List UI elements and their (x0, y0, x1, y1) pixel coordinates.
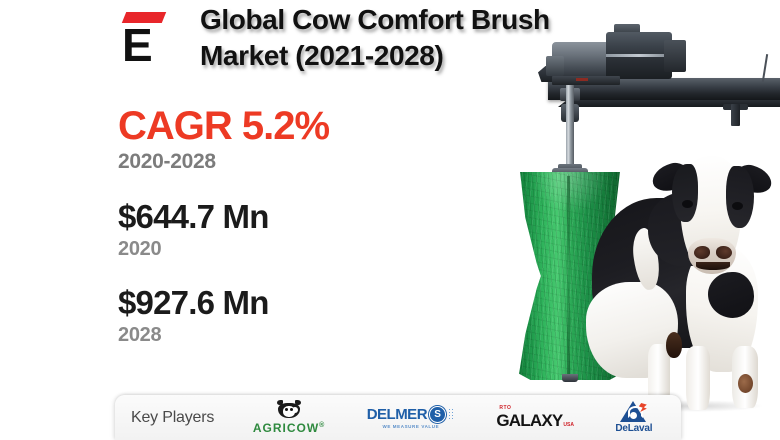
galaxy-sub-text: USA (563, 422, 574, 428)
key-players-logo-list: AGRICOW® DELMER S WE MEASURE VALUE RTO G… (214, 400, 681, 435)
market-value-2020: $644.7 Mn 2020 (118, 198, 418, 262)
market-value-year: 2028 (118, 322, 418, 348)
brush-drive-shaft (566, 85, 574, 171)
key-players-bar: Key Players AGRICOW® DELMER S WE MEASURE… (115, 395, 681, 440)
delmer-dot-pattern-icon (448, 408, 455, 421)
motor-band (606, 54, 672, 57)
key-player-logo-agricow[interactable]: AGRICOW® (253, 400, 326, 435)
cow-flank-spot (708, 272, 754, 318)
key-player-logo-delmer[interactable]: DELMER S WE MEASURE VALUE (367, 406, 455, 429)
agricow-wordmark: AGRICOW® (253, 421, 326, 435)
galaxy-logo-row: GALAXY USA (496, 411, 574, 431)
brush-bottom-tip (562, 374, 578, 382)
motor-label (576, 78, 588, 81)
delmer-tagline: WE MEASURE VALUE (382, 424, 439, 429)
cow-mouth (696, 262, 730, 270)
cagr-period: 2020-2028 (118, 148, 418, 176)
cagr-value: CAGR 5.2% (118, 104, 418, 148)
gearbox-side-cap (546, 56, 564, 76)
key-player-logo-galaxy[interactable]: RTO GALAXY USA (496, 405, 574, 431)
delaval-wordmark: DeLaval (615, 423, 652, 434)
cow-hind-leg-marking (738, 374, 753, 393)
cow-nostril-left (694, 246, 710, 259)
product-illustration (400, 0, 780, 400)
cow-head-marking-right (726, 166, 754, 228)
delmer-logo-row: DELMER S (367, 406, 455, 423)
infographic-canvas: E Global Cow Comfort Brush Market (2021-… (0, 0, 780, 440)
statistics-block: CAGR 5.2% 2020-2028 $644.7 Mn 2020 $927.… (118, 104, 418, 348)
cow-eye-right (732, 202, 743, 210)
market-value-amount: $927.6 Mn (118, 284, 418, 322)
delmer-circle-icon: S (429, 406, 446, 423)
beam-hook (731, 104, 740, 126)
delaval-triangle-icon (620, 401, 648, 422)
key-player-logo-delaval[interactable]: DeLaval (615, 401, 652, 434)
market-value-amount: $644.7 Mn (118, 198, 418, 236)
galaxy-wordmark: GALAXY (496, 411, 562, 431)
brush-core-spine (567, 176, 570, 376)
agricow-cow-head-icon (274, 400, 304, 420)
key-players-label: Key Players (131, 409, 214, 427)
market-value-year: 2020 (118, 236, 418, 262)
cow-front-leg-right (686, 346, 710, 410)
motor-end-cap (664, 40, 686, 72)
company-logo: E (118, 8, 172, 64)
logo-letter: E (122, 22, 152, 68)
cow-leg-marking (666, 332, 682, 358)
delmer-wordmark: DELMER (367, 406, 427, 423)
market-value-2028: $927.6 Mn 2028 (118, 284, 418, 348)
cow-eye-left (682, 200, 693, 208)
cow-photo (590, 150, 780, 408)
cow-head-marking-left (672, 164, 698, 222)
cow-nostril-right (716, 246, 732, 259)
